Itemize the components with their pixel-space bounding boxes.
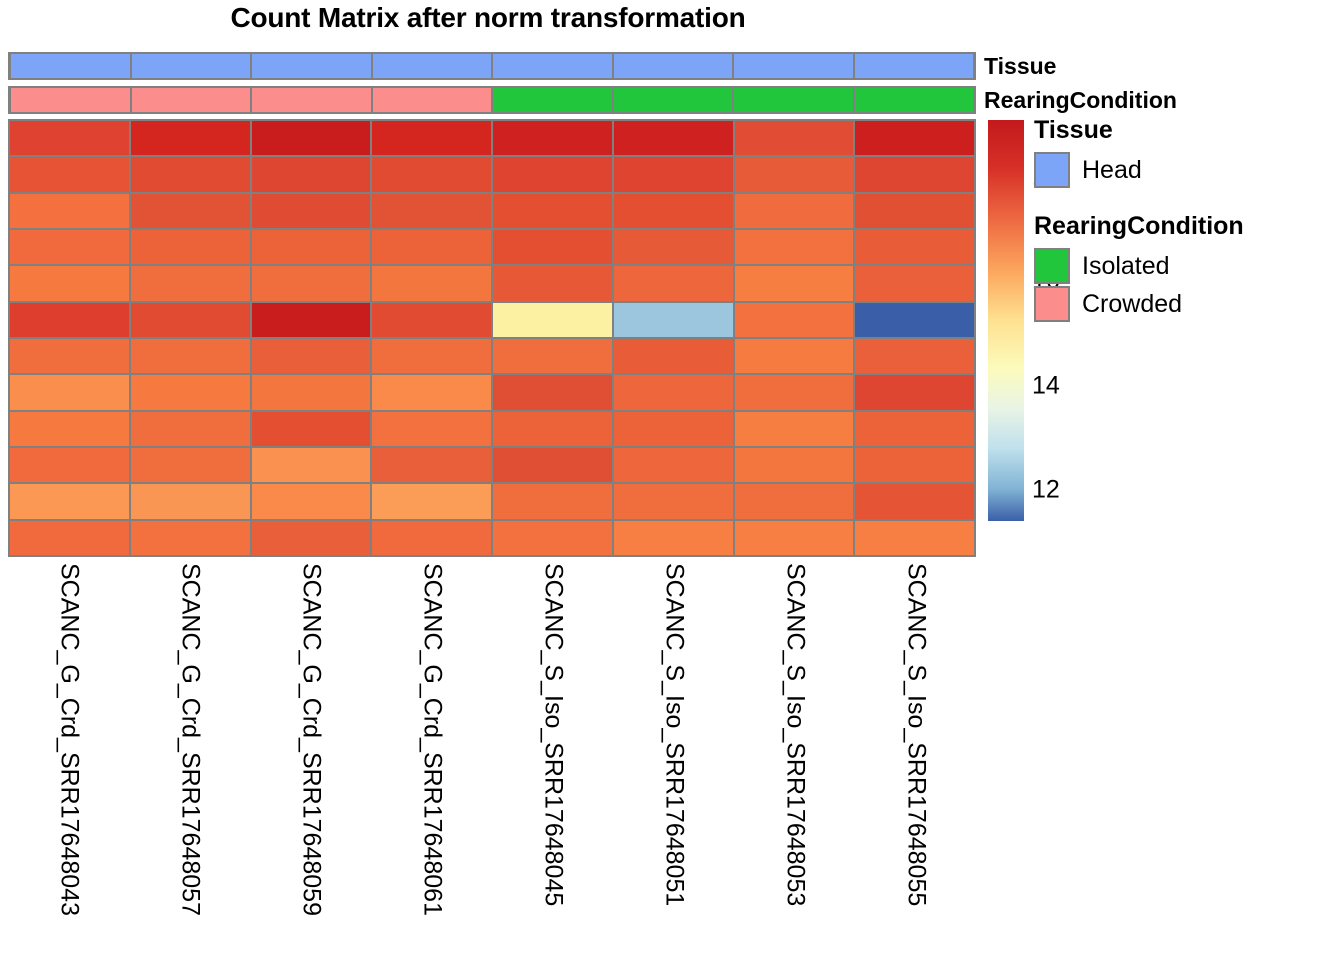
legend-entry-label: Crowded <box>1082 290 1182 319</box>
legend-rearing-condition-entries: IsolatedCrowded <box>1034 247 1244 323</box>
annotation-label-rearing-condition: RearingCondition <box>984 87 1177 114</box>
heatmap-cell <box>252 412 371 446</box>
heatmap-cell <box>131 194 250 228</box>
heatmap-cell <box>10 121 129 155</box>
heatmap-cell <box>252 448 371 482</box>
heatmap-cell <box>252 375 371 409</box>
heatmap-cell <box>131 375 250 409</box>
annotation-cell-tissue <box>733 54 854 78</box>
column-label-slot: SCANC_S_Iso_SRR17648051 <box>613 559 734 959</box>
legend-swatch-icon <box>1034 152 1070 188</box>
colorbar-tick-label: 12 <box>1032 475 1060 504</box>
heatmap-cell <box>252 121 371 155</box>
heatmap-cell <box>493 157 612 191</box>
column-label-text: SCANC_S_Iso_SRR17648053 <box>780 563 809 906</box>
heatmap-cell <box>855 157 974 191</box>
heatmap-cell <box>10 230 129 264</box>
heatmap-cell <box>735 339 854 373</box>
heatmap-cell <box>252 303 371 337</box>
heatmap-cell <box>855 448 974 482</box>
legend-swatch-icon <box>1034 248 1070 284</box>
legend-entry-tissue[interactable]: Head <box>1034 151 1142 189</box>
heatmap-cell <box>735 484 854 518</box>
heatmap-cell <box>735 157 854 191</box>
heatmap-cell <box>735 194 854 228</box>
heatmap-cell <box>493 484 612 518</box>
column-label-slot: SCANC_S_Iso_SRR17648045 <box>492 559 613 959</box>
annotation-cell-rearing-condition <box>854 88 975 112</box>
heatmap-cell <box>10 266 129 300</box>
heatmap-cell <box>493 521 612 555</box>
annotation-cell-tissue <box>10 54 131 78</box>
annotation-cell-tissue <box>251 54 372 78</box>
legend-tissue-heading: Tissue <box>1034 116 1142 145</box>
heatmap-cell <box>855 194 974 228</box>
heatmap-cell <box>252 521 371 555</box>
heatmap-cell <box>493 339 612 373</box>
annotation-cell-tissue <box>131 54 252 78</box>
annotation-cell-tissue <box>492 54 613 78</box>
legend-tissue-entries: Head <box>1034 151 1142 189</box>
column-label-slot: SCANC_G_Crd_SRR17648061 <box>371 559 492 959</box>
heatmap-cell <box>614 266 733 300</box>
legend-entry-label: Isolated <box>1082 252 1170 281</box>
heatmap-cell <box>372 521 491 555</box>
column-labels: SCANC_G_Crd_SRR17648043SCANC_G_Crd_SRR17… <box>8 559 976 959</box>
heatmap-cell <box>131 521 250 555</box>
heatmap-cell <box>735 412 854 446</box>
annotation-cell-rearing-condition <box>10 88 131 112</box>
heatmap-figure: Count Matrix after norm transformation T… <box>0 0 1344 960</box>
column-label-slot: SCANC_G_Crd_SRR17648057 <box>129 559 250 959</box>
column-label-text: SCANC_G_Crd_SRR17648043 <box>54 563 83 916</box>
heatmap-cell <box>131 412 250 446</box>
annotation-cell-tissue <box>372 54 493 78</box>
heatmap-cell <box>372 412 491 446</box>
heatmap-cell <box>372 339 491 373</box>
heatmap-cell <box>252 194 371 228</box>
heatmap-cell <box>493 230 612 264</box>
column-label-text: SCANC_G_Crd_SRR17648059 <box>296 563 325 916</box>
heatmap-cell <box>252 230 371 264</box>
heatmap-cell <box>10 303 129 337</box>
heatmap-cell <box>10 194 129 228</box>
heatmap-cell <box>614 230 733 264</box>
annotation-cell-rearing-condition <box>492 88 613 112</box>
heatmap-cell <box>735 448 854 482</box>
annotation-cell-rearing-condition <box>733 88 854 112</box>
heatmap-cell <box>614 412 733 446</box>
legend-rearing-condition-heading: RearingCondition <box>1034 212 1244 241</box>
column-label-slot: SCANC_G_Crd_SRR17648043 <box>8 559 129 959</box>
annotation-label-tissue: Tissue <box>984 53 1056 80</box>
heatmap-cell <box>855 521 974 555</box>
annotation-cell-rearing-condition <box>613 88 734 112</box>
heatmap-cell <box>252 339 371 373</box>
column-label-text: SCANC_S_Iso_SRR17648045 <box>538 563 567 906</box>
heatmap-cell <box>493 121 612 155</box>
heatmap-cell <box>252 157 371 191</box>
heatmap-cell <box>614 448 733 482</box>
heatmap-cell <box>614 194 733 228</box>
heatmap-cell <box>493 448 612 482</box>
column-label-text: SCANC_G_Crd_SRR17648061 <box>417 563 446 916</box>
page-title: Count Matrix after norm transformation <box>0 2 976 34</box>
heatmap-cell <box>493 412 612 446</box>
heatmap-cell <box>735 230 854 264</box>
heatmap-cell <box>372 194 491 228</box>
heatmap-cell <box>614 375 733 409</box>
column-label-text: SCANC_S_Iso_SRR17648051 <box>659 563 688 906</box>
heatmap-cell <box>735 375 854 409</box>
heatmap-cell <box>614 157 733 191</box>
heatmap-cell <box>735 266 854 300</box>
heatmap-cell <box>372 121 491 155</box>
heatmap-cell <box>493 266 612 300</box>
heatmap-cell <box>614 121 733 155</box>
annotation-bar-tissue <box>8 52 976 80</box>
heatmap-cell <box>252 266 371 300</box>
heatmap-cell <box>372 230 491 264</box>
annotation-bar-rearing-condition <box>8 86 976 114</box>
heatmap-cell <box>131 484 250 518</box>
legend-entry-label: Head <box>1082 156 1142 185</box>
colorbar-gradient <box>988 120 1024 521</box>
heatmap-cell <box>855 121 974 155</box>
heatmap-cell <box>493 303 612 337</box>
heatmap-cell <box>131 303 250 337</box>
heatmap-cell <box>372 157 491 191</box>
legend-rearing-condition: RearingCondition IsolatedCrowded <box>1034 212 1244 323</box>
column-label-slot: SCANC_S_Iso_SRR17648053 <box>734 559 855 959</box>
legend-entry-rearing-condition[interactable]: Crowded <box>1034 285 1244 323</box>
heatmap-cell <box>855 266 974 300</box>
heatmap-cell <box>10 412 129 446</box>
heatmap-cell <box>10 375 129 409</box>
heatmap-cell <box>10 157 129 191</box>
heatmap-cell <box>855 230 974 264</box>
heatmap-cell <box>10 448 129 482</box>
heatmap-cell <box>855 375 974 409</box>
heatmap-cell <box>131 121 250 155</box>
heatmap-cell <box>372 303 491 337</box>
column-label-slot: SCANC_S_Iso_SRR17648055 <box>855 559 976 959</box>
heatmap-cell <box>10 521 129 555</box>
heatmap-cell <box>372 266 491 300</box>
annotation-cell-tissue <box>613 54 734 78</box>
annotation-cell-rearing-condition <box>131 88 252 112</box>
heatmap-cell <box>131 448 250 482</box>
legend-swatch-icon <box>1034 286 1070 322</box>
annotation-cell-rearing-condition <box>251 88 372 112</box>
heatmap-cell <box>131 230 250 264</box>
heatmap-cell <box>614 303 733 337</box>
heatmap-cell <box>855 339 974 373</box>
colorbar: 18161412 <box>988 120 1024 521</box>
legend-entry-rearing-condition[interactable]: Isolated <box>1034 247 1244 285</box>
heatmap-cell <box>614 521 733 555</box>
heatmap-cell <box>372 375 491 409</box>
heatmap-cell <box>493 194 612 228</box>
column-label-text: SCANC_S_Iso_SRR17648055 <box>901 563 930 906</box>
heatmap-cell <box>131 157 250 191</box>
annotation-cell-tissue <box>854 54 975 78</box>
heatmap-cell <box>855 303 974 337</box>
colorbar-tick-label: 14 <box>1032 371 1060 400</box>
heatmap-cell <box>131 266 250 300</box>
heatmap-cell <box>735 121 854 155</box>
heatmap-cell <box>855 484 974 518</box>
heatmap-cell <box>372 448 491 482</box>
legend-tissue: Tissue Head <box>1034 116 1142 189</box>
heatmap-cell <box>131 339 250 373</box>
annotation-cell-rearing-condition <box>372 88 493 112</box>
heatmap-cell <box>735 303 854 337</box>
heatmap-cell <box>10 484 129 518</box>
heatmap-cell <box>10 339 129 373</box>
heatmap-cell <box>614 484 733 518</box>
heatmap-cell <box>252 484 371 518</box>
heatmap-cell <box>855 412 974 446</box>
column-label-text: SCANC_G_Crd_SRR17648057 <box>175 563 204 916</box>
heatmap-cell <box>372 484 491 518</box>
heatmap-cell <box>493 375 612 409</box>
heatmap-cell <box>614 339 733 373</box>
column-label-slot: SCANC_G_Crd_SRR17648059 <box>250 559 371 959</box>
heatmap-grid <box>8 119 976 557</box>
heatmap-cell <box>735 521 854 555</box>
